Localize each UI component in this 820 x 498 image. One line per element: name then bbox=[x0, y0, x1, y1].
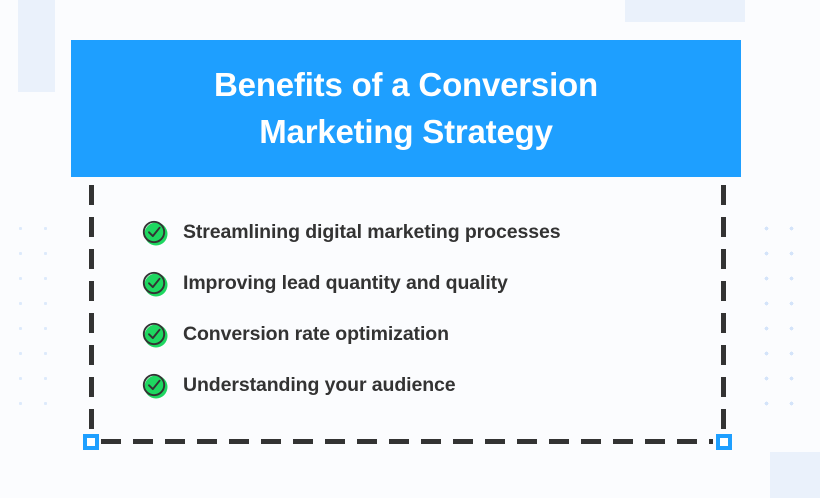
check-circle-icon bbox=[141, 219, 169, 247]
dashed-border-left bbox=[89, 185, 94, 442]
list-item-label: Understanding your audience bbox=[183, 374, 456, 397]
corner-marker-bottom-left bbox=[83, 434, 99, 450]
list-item: Conversion rate optimization bbox=[141, 309, 713, 360]
check-circle-icon bbox=[141, 270, 169, 298]
dashed-frame: Streamlining digital marketing processes… bbox=[91, 185, 723, 442]
decorative-dot-grid-left bbox=[6, 214, 68, 426]
list-item: Improving lead quantity and quality bbox=[141, 258, 713, 309]
list-item-label: Improving lead quantity and quality bbox=[183, 272, 508, 295]
page-title: Benefits of a Conversion Marketing Strat… bbox=[184, 62, 628, 156]
infographic-canvas: Benefits of a Conversion Marketing Strat… bbox=[0, 0, 820, 498]
list-item-label: Streamlining digital marketing processes bbox=[183, 221, 560, 244]
check-circle-icon bbox=[141, 321, 169, 349]
header-band: Benefits of a Conversion Marketing Strat… bbox=[71, 40, 741, 177]
decorative-rect-bottom-right bbox=[770, 452, 820, 498]
decorative-dot-grid-right bbox=[752, 214, 814, 426]
benefit-list: Streamlining digital marketing processes… bbox=[141, 207, 713, 411]
check-circle-icon bbox=[141, 372, 169, 400]
decorative-rect-top-left bbox=[18, 0, 55, 92]
corner-marker-bottom-right bbox=[716, 434, 732, 450]
list-item: Streamlining digital marketing processes bbox=[141, 207, 713, 258]
dashed-border-right bbox=[721, 185, 726, 442]
list-item: Understanding your audience bbox=[141, 360, 713, 411]
list-item-label: Conversion rate optimization bbox=[183, 323, 449, 346]
dashed-border-bottom bbox=[101, 439, 713, 444]
decorative-rect-top-right bbox=[625, 0, 745, 22]
